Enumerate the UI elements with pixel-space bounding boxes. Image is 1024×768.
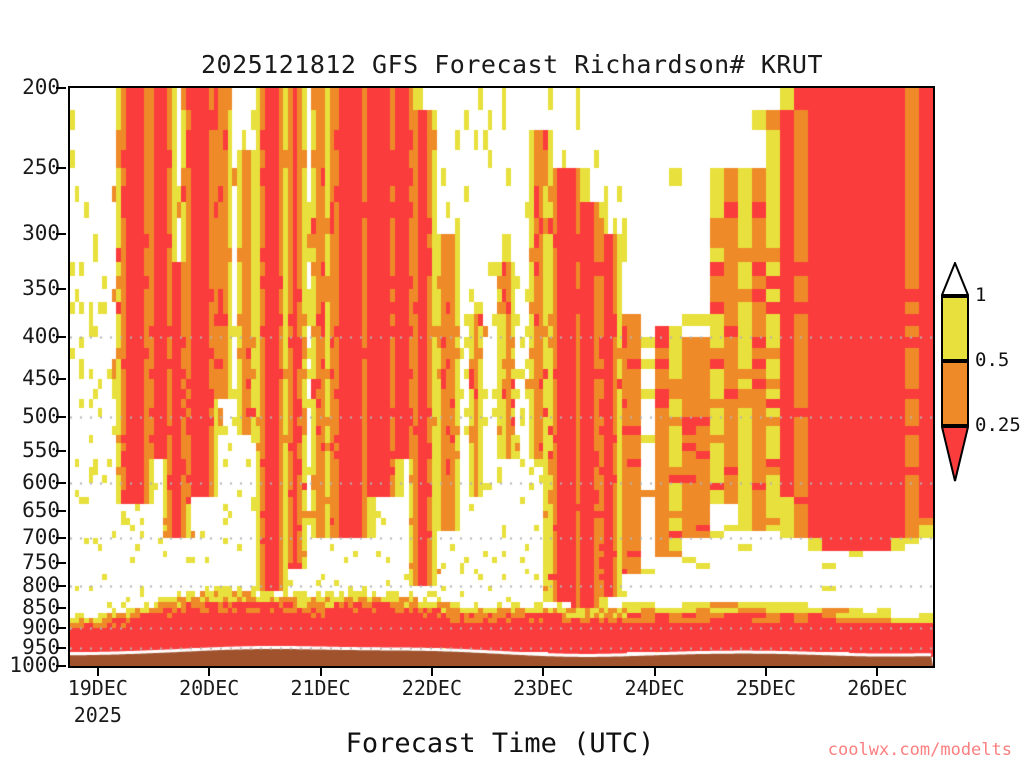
colorbar-arrow-down (941, 426, 969, 482)
y-tick-label: 650 (4, 498, 60, 522)
x-tick-label: 24DEC (595, 676, 715, 700)
colorbar-arrow-up (941, 262, 969, 296)
y-tick-mark (56, 288, 66, 290)
x-tick-label: 19DEC (38, 676, 158, 700)
heatmap-canvas (70, 88, 933, 666)
colorbar-legend[interactable]: 10.50.25 (941, 296, 971, 492)
y-tick-label: 750 (4, 550, 60, 574)
y-tick-mark (56, 537, 66, 539)
y-tick-label: 300 (4, 221, 60, 245)
y-tick-mark (56, 647, 66, 649)
y-tick-mark (56, 665, 66, 667)
y-tick-label: 400 (4, 324, 60, 348)
x-tick-label: 23DEC (483, 676, 603, 700)
page-title: 2025121812 GFS Forecast Richardson# KRUT (0, 50, 1024, 79)
x-tick-mark (542, 668, 544, 676)
y-tick-label: 350 (4, 276, 60, 300)
y-tick-label: 450 (4, 366, 60, 390)
y-tick-mark (56, 585, 66, 587)
y-tick-mark (56, 627, 66, 629)
y-tick-label: 800 (4, 573, 60, 597)
y-tick-mark (56, 167, 66, 169)
y-tick-mark (56, 378, 66, 380)
x-tick-mark (654, 668, 656, 676)
colorbar-segment (941, 296, 969, 361)
y-tick-mark (56, 87, 66, 89)
y-tick-mark (56, 450, 66, 452)
y-tick-label: 700 (4, 525, 60, 549)
y-tick-label: 250 (4, 155, 60, 179)
x-tick-label: 26DEC (817, 676, 937, 700)
y-tick-mark (56, 482, 66, 484)
y-tick-mark (56, 562, 66, 564)
watermark: coolwx.com/modelts (828, 740, 1012, 760)
y-tick-label: 1000 (4, 653, 60, 677)
x-tick-label: 20DEC (149, 676, 269, 700)
y-tick-mark (56, 510, 66, 512)
x-tick-mark (320, 668, 322, 676)
colorbar-segment (941, 361, 969, 426)
y-tick-mark (56, 336, 66, 338)
x-tick-mark (431, 668, 433, 676)
y-tick-mark (56, 416, 66, 418)
x-tick-mark (208, 668, 210, 676)
x-tick-mark (97, 668, 99, 676)
y-axis: 2002503003504004505005506006507007508008… (0, 0, 60, 768)
y-tick-label: 200 (4, 75, 60, 99)
plot-area (68, 86, 935, 668)
x-tick-mark (876, 668, 878, 676)
chart-page: 2025121812 GFS Forecast Richardson# KRUT… (0, 0, 1024, 768)
colorbar-tick-label: 0.5 (975, 349, 1009, 371)
y-tick-label: 600 (4, 470, 60, 494)
colorbar-tick-label: 0.25 (975, 414, 1021, 436)
x-tick-label: 22DEC (372, 676, 492, 700)
x-tick-label: 21DEC (261, 676, 381, 700)
y-tick-mark (56, 233, 66, 235)
x-axis-year-label: 2025 (38, 703, 158, 727)
x-tick-mark (765, 668, 767, 676)
colorbar-tick-label: 1 (975, 284, 986, 306)
y-tick-mark (56, 607, 66, 609)
y-tick-label: 550 (4, 438, 60, 462)
x-tick-label: 25DEC (706, 676, 826, 700)
y-tick-label: 500 (4, 404, 60, 428)
